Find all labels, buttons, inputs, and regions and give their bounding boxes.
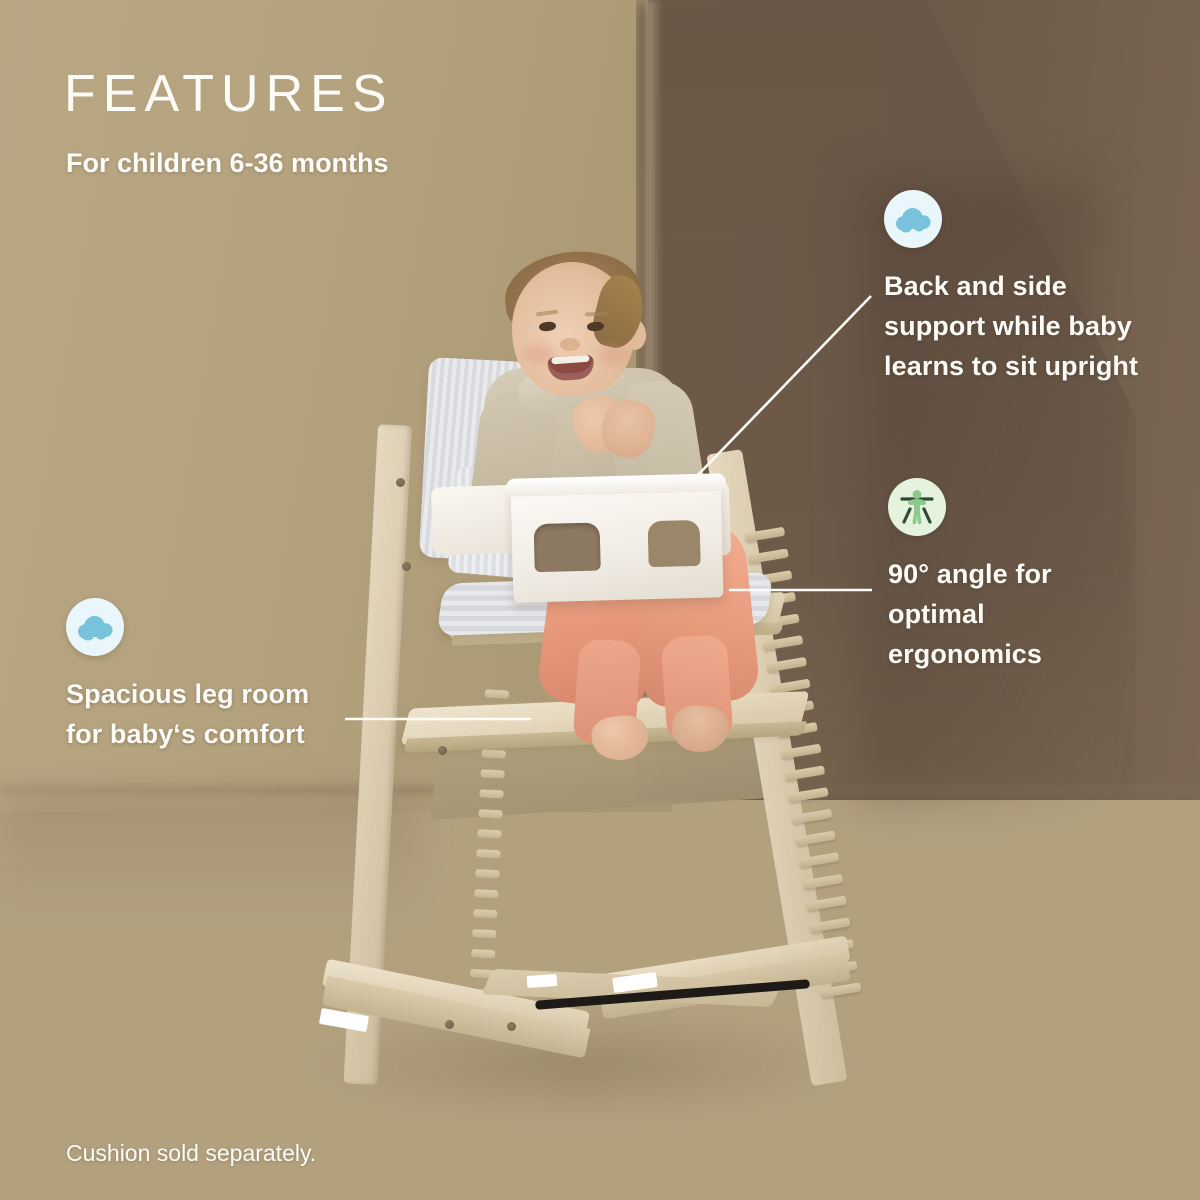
footnote: Cushion sold separately. bbox=[66, 1140, 316, 1167]
baby-eyebrow-right bbox=[585, 312, 607, 317]
baby-nose bbox=[560, 338, 580, 351]
baby-set-front-panel bbox=[510, 477, 723, 602]
page-title: FEATURES bbox=[64, 68, 394, 120]
callout-ninety-degree-angle: 90° angle for optimal ergonomics bbox=[888, 478, 1118, 674]
callout-text: Back and side support while baby learns … bbox=[884, 266, 1169, 386]
baby-right-foot bbox=[670, 703, 731, 755]
callout-text: Spacious leg room for baby‘s comfort bbox=[66, 674, 341, 754]
baby-cheek-right bbox=[598, 344, 628, 364]
cloud-icon bbox=[884, 190, 942, 248]
callout-text: 90° angle for optimal ergonomics bbox=[888, 554, 1118, 674]
callout-spacious-leg-room: Spacious leg room for baby‘s comfort bbox=[66, 598, 341, 754]
cloud-icon bbox=[66, 598, 124, 656]
page-subtitle: For children 6-36 months bbox=[66, 147, 389, 179]
callout-back-and-side-support: Back and side support while baby learns … bbox=[884, 190, 1169, 386]
ergonomics-figure-icon bbox=[888, 478, 946, 536]
feature-infographic: Back and side support while baby learns … bbox=[0, 0, 1200, 1200]
